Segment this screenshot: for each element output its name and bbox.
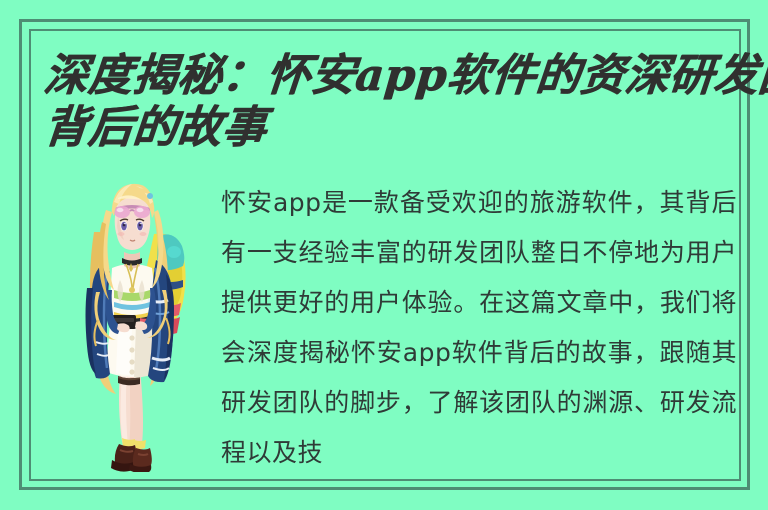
title-line-2: 背后的故事 [42, 102, 747, 154]
article-body: 怀安app是一款备受欢迎的旅游软件，其背后有一支经验丰富的研发团队整日不停地为用… [221, 178, 737, 478]
anime-traveler-girl-illustration [62, 172, 202, 472]
page-title: 深度揭秘：怀安app软件的资深研发团队 背后的故事 [44, 50, 744, 154]
boots-icon [111, 444, 152, 472]
title-line-1: 深度揭秘：怀安app软件的资深研发团队 [42, 50, 747, 102]
poster-canvas: 深度揭秘：怀安app软件的资深研发团队 背后的故事 [0, 0, 768, 510]
article-paragraph: 怀安app是一款备受欢迎的旅游软件，其背后有一支经验丰富的研发团队整日不停地为用… [221, 178, 737, 478]
